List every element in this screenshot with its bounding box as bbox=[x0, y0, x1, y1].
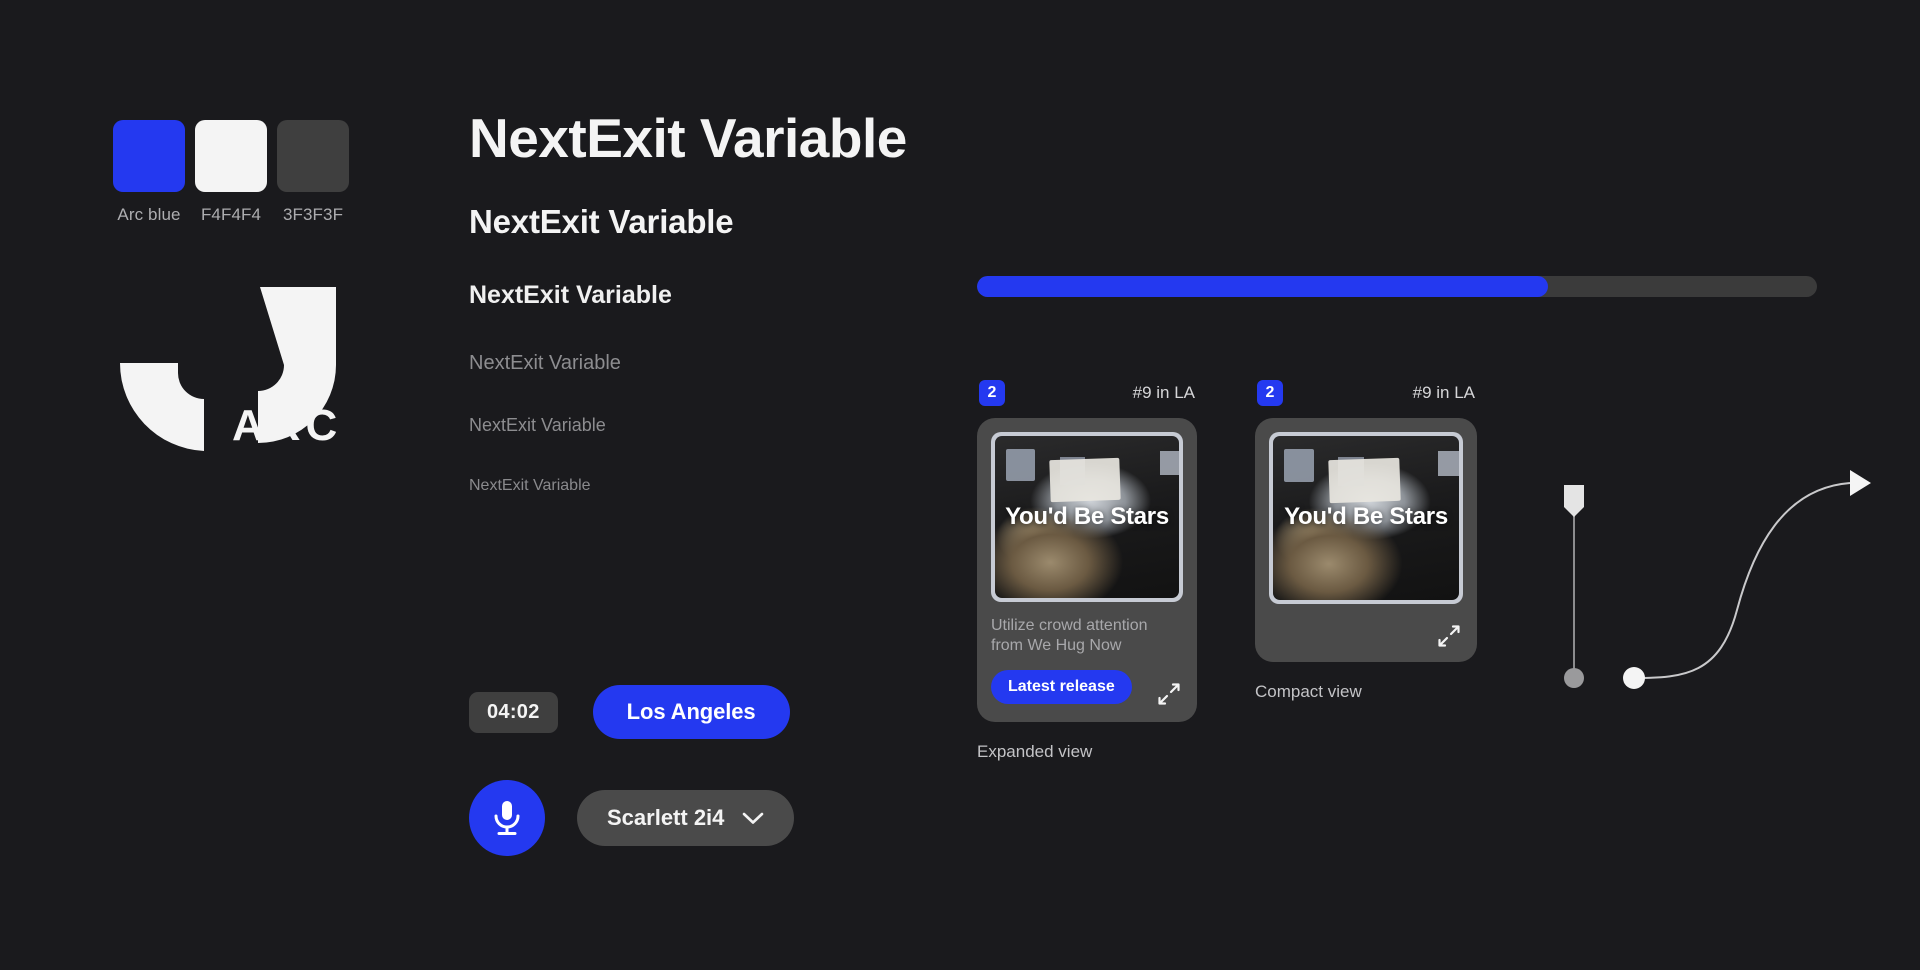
microphone-icon bbox=[492, 798, 522, 838]
track-card-expanded[interactable]: You'd Be Stars Utilize crowd attention f… bbox=[977, 418, 1197, 722]
chevron-down-icon bbox=[742, 812, 764, 825]
swatch-arc-blue[interactable]: Arc blue bbox=[113, 120, 185, 225]
specimen-small: NextExit Variable bbox=[469, 352, 989, 375]
arc-logo-mark: ARC bbox=[120, 285, 350, 460]
progress-bar-fill bbox=[977, 276, 1548, 297]
status-controls-row: 04:02 Los Angeles bbox=[469, 685, 790, 739]
expanded-card-header: 2 #9 in LA bbox=[977, 380, 1197, 406]
audio-device-dropdown[interactable]: Scarlett 2i4 bbox=[577, 790, 794, 846]
color-palette: Arc blue F4F4F4 3F3F3F bbox=[113, 120, 349, 225]
easing-curve-diagram bbox=[1545, 460, 1885, 715]
album-art-frame: You'd Be Stars bbox=[1269, 432, 1463, 604]
curve-start-dot[interactable] bbox=[1623, 667, 1645, 689]
expanded-card-caption: Expanded view bbox=[977, 742, 1197, 762]
specimen-xxsmall: NextExit Variable bbox=[469, 477, 989, 495]
compact-card-block: 2 #9 in LA You'd Be Stars Compact view bbox=[1255, 380, 1477, 702]
easing-curve-svg bbox=[1545, 460, 1885, 710]
swatch-label-arc-blue: Arc blue bbox=[113, 205, 185, 225]
album-art-title: You'd Be Stars bbox=[995, 436, 1179, 598]
specimen-xl: NextExit Variable bbox=[469, 108, 989, 169]
rank-badge: 2 bbox=[1257, 380, 1283, 406]
swatch-chip-arc-blue bbox=[113, 120, 185, 192]
expand-arrows-icon[interactable] bbox=[1437, 624, 1461, 648]
compact-card-caption: Compact view bbox=[1255, 682, 1477, 702]
specimen-large: NextExit Variable bbox=[469, 203, 989, 241]
track-card-compact[interactable]: You'd Be Stars bbox=[1255, 418, 1477, 662]
latest-release-button[interactable]: Latest release bbox=[991, 670, 1132, 704]
compact-card-header: 2 #9 in LA bbox=[1255, 380, 1477, 406]
arc-logo-wordmark: ARC bbox=[232, 401, 342, 450]
rank-text: #9 in LA bbox=[1133, 383, 1195, 403]
compact-card-footer-space bbox=[1269, 604, 1463, 646]
expanded-card-block: 2 #9 in LA You'd Be Stars Utilize crowd … bbox=[977, 380, 1197, 762]
design-system-canvas: Arc blue F4F4F4 3F3F3F ARC NextExit Vari… bbox=[0, 0, 1920, 970]
album-art-title: You'd Be Stars bbox=[1273, 436, 1459, 600]
pin-handle-icon[interactable] bbox=[1564, 485, 1584, 517]
specimen-xsmall: NextExit Variable bbox=[469, 415, 989, 436]
swatch-label-3f3f3f: 3F3F3F bbox=[277, 205, 349, 225]
arrow-head-icon bbox=[1850, 470, 1871, 496]
playhead-end-dot[interactable] bbox=[1564, 668, 1584, 688]
easing-curve-path bbox=[1635, 483, 1850, 678]
swatch-f4f4f4[interactable]: F4F4F4 bbox=[195, 120, 267, 225]
album-art-frame: You'd Be Stars bbox=[991, 432, 1183, 602]
type-specimen: NextExit Variable NextExit Variable Next… bbox=[469, 108, 989, 495]
expand-arrows-icon[interactable] bbox=[1157, 682, 1181, 706]
arc-logo: ARC bbox=[120, 285, 350, 460]
city-button[interactable]: Los Angeles bbox=[593, 685, 790, 739]
specimen-medium: NextExit Variable bbox=[469, 281, 989, 310]
timer-chip: 04:02 bbox=[469, 692, 558, 733]
rank-badge: 2 bbox=[979, 380, 1005, 406]
audio-device-label: Scarlett 2i4 bbox=[607, 805, 724, 831]
rank-text: #9 in LA bbox=[1413, 383, 1475, 403]
microphone-button[interactable] bbox=[469, 780, 545, 856]
swatch-chip-3f3f3f bbox=[277, 120, 349, 192]
album-art: You'd Be Stars bbox=[995, 436, 1179, 598]
swatch-label-f4f4f4: F4F4F4 bbox=[195, 205, 267, 225]
swatch-chip-f4f4f4 bbox=[195, 120, 267, 192]
album-art: You'd Be Stars bbox=[1273, 436, 1459, 600]
card-description: Utilize crowd attention from We Hug Now bbox=[991, 616, 1183, 656]
audio-controls-row: Scarlett 2i4 bbox=[469, 780, 794, 856]
progress-bar[interactable] bbox=[977, 276, 1817, 297]
swatch-3f3f3f[interactable]: 3F3F3F bbox=[277, 120, 349, 225]
